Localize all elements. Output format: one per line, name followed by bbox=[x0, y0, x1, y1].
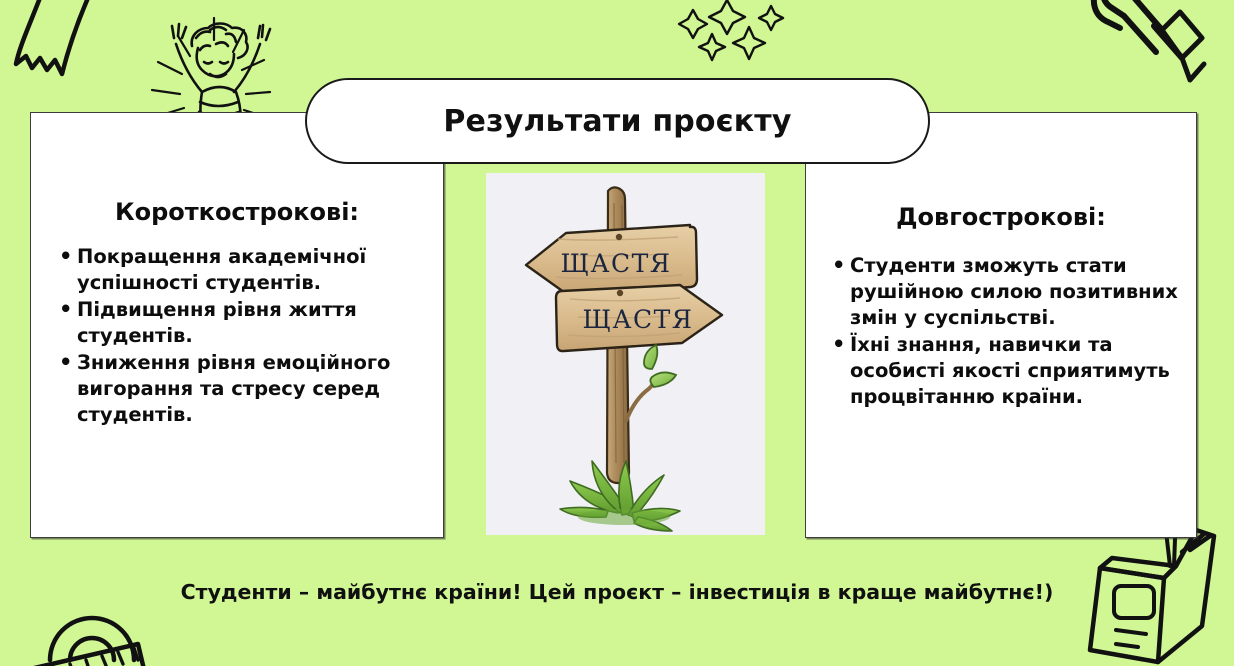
long-term-bullet-list: Студенти зможуть стати рушійною силою по… bbox=[806, 253, 1196, 410]
long-term-results-card: Довгострокові: Студенти зможуть стати ру… bbox=[805, 112, 1197, 538]
pennant-doodle bbox=[8, 0, 128, 92]
list-item: Зниження рівня емоційного вигорання та с… bbox=[77, 350, 431, 428]
slide-canvas: Результати проєкту Короткострокові: Покр… bbox=[0, 0, 1234, 647]
list-item: Їхні знання, навички та особисті якості … bbox=[850, 332, 1192, 410]
footer-tagline: Студенти – майбутнє країни! Цей проєкт –… bbox=[0, 580, 1234, 604]
svg-text:ЩАСТЯ: ЩАСТЯ bbox=[583, 305, 694, 334]
signpost-illustration: ЩАСТЯ ЩАСТЯ bbox=[486, 173, 765, 535]
pen-icon bbox=[1078, 0, 1208, 76]
list-item: Покращення академічної успішності студен… bbox=[77, 244, 431, 296]
list-item: Підвищення рівня життя студентів. bbox=[77, 297, 431, 349]
sparkles-icon bbox=[668, 2, 818, 64]
svg-text:ЩАСТЯ: ЩАСТЯ bbox=[561, 249, 672, 278]
short-term-bullet-list: Покращення академічної успішності студен… bbox=[31, 244, 443, 427]
signpost-image-panel: ЩАСТЯ ЩАСТЯ bbox=[486, 173, 765, 535]
page-title: Результати проєкту bbox=[305, 78, 930, 164]
short-term-results-card: Короткострокові: Покращення академічної … bbox=[30, 112, 444, 538]
page-title-text: Результати проєкту bbox=[443, 104, 791, 139]
list-item: Студенти зможуть стати рушійною силою по… bbox=[850, 253, 1192, 331]
